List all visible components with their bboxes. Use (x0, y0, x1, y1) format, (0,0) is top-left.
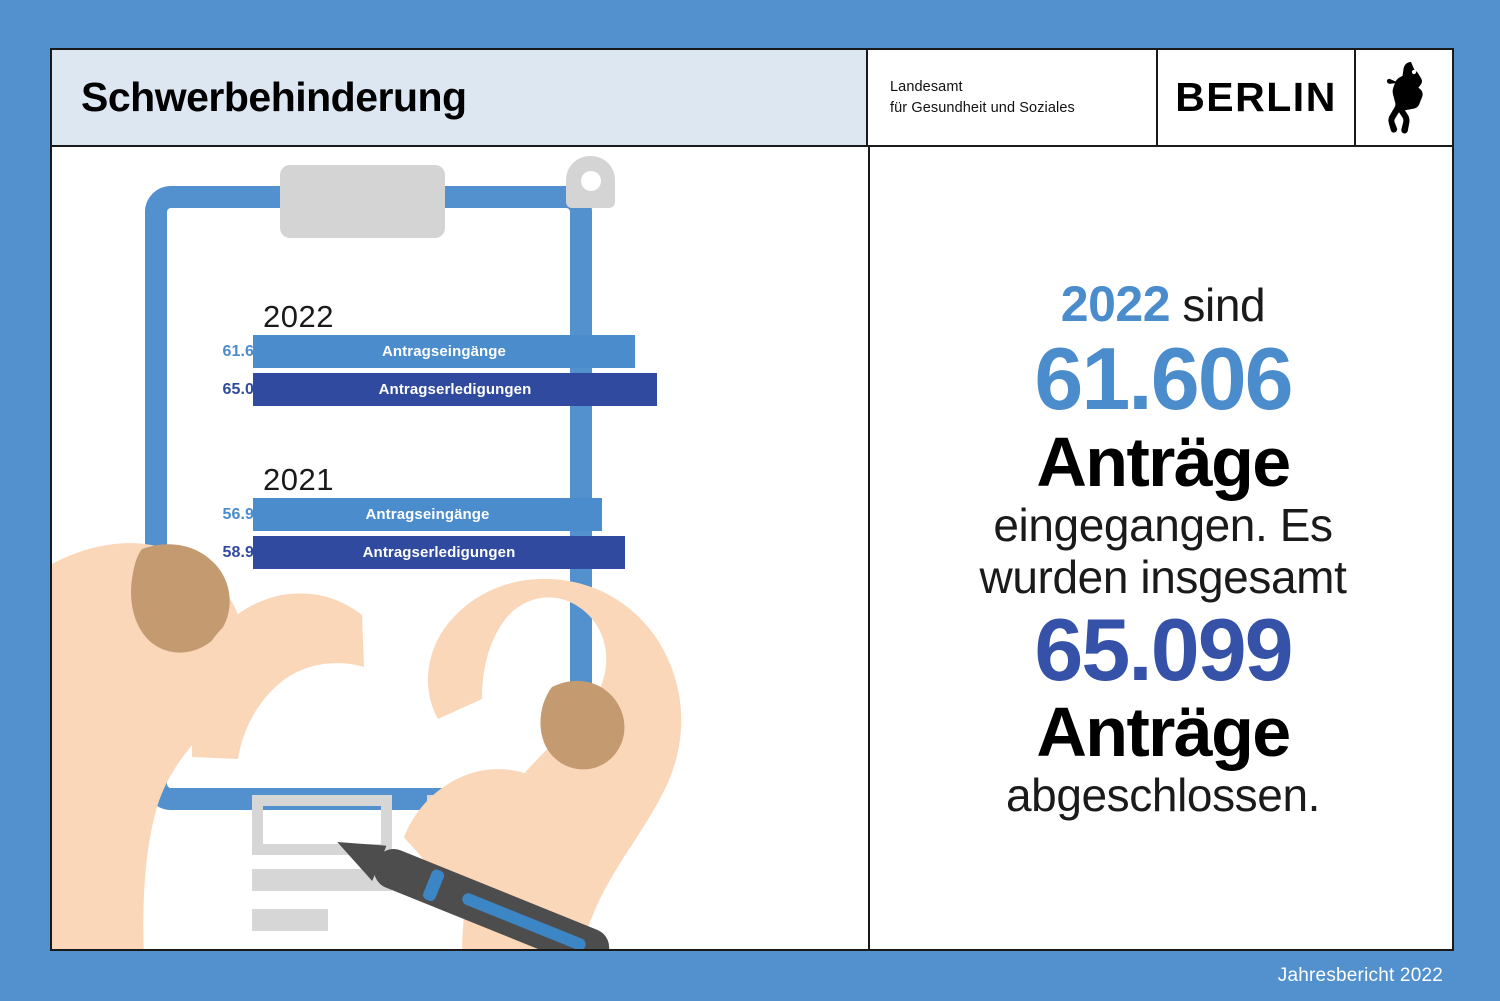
office-name-line1: Landesamt (890, 77, 1156, 98)
footer-report-label: Jahresbericht 2022 (1278, 965, 1443, 987)
statement-number-eingaenge: 61.606 (1034, 333, 1291, 425)
statement-line-year: 2022 sind (1061, 276, 1265, 333)
statement-line3: wurden insgesamt (980, 551, 1347, 603)
berlin-bear-icon (1378, 59, 1430, 137)
header-bar: Schwerbehinderung Landesamt für Gesundhe… (52, 50, 1452, 147)
statement-word-antraege-1: Anträge (1036, 425, 1289, 499)
berlin-wordmark: BERLIN (1175, 74, 1337, 121)
header-office-cell: Landesamt für Gesundheit und Soziales (868, 50, 1158, 145)
statement-line2: eingegangen. Es (993, 499, 1332, 551)
statement-line1-rest: sind (1182, 279, 1265, 331)
illustration-panel: 2022 61.606 Antragseingänge 65.099 Antra… (52, 147, 868, 951)
statement-line4: abgeschlossen. (1006, 769, 1320, 821)
infographic-root: Schwerbehinderung Landesamt für Gesundhe… (0, 0, 1500, 1001)
left-hand (52, 543, 364, 951)
statement-number-erledigungen: 65.099 (1034, 604, 1291, 696)
statement-year: 2022 (1061, 276, 1170, 332)
content-card: Schwerbehinderung Landesamt für Gesundhe… (50, 48, 1454, 951)
statement-panel: 2022 sind 61.606 Anträge eingegangen. Es… (870, 147, 1454, 951)
page-title: Schwerbehinderung (81, 74, 467, 121)
body-area: 2022 61.606 Antragseingänge 65.099 Antra… (52, 147, 1452, 951)
berlin-wordmark-cell: BERLIN (1158, 50, 1356, 145)
office-name-line2: für Gesundheit und Soziales (890, 98, 1156, 119)
header-title-cell: Schwerbehinderung (52, 50, 868, 145)
hands-illustration (52, 147, 868, 951)
statement-word-antraege-2: Anträge (1036, 695, 1289, 769)
berlin-bear-cell (1356, 50, 1452, 145)
